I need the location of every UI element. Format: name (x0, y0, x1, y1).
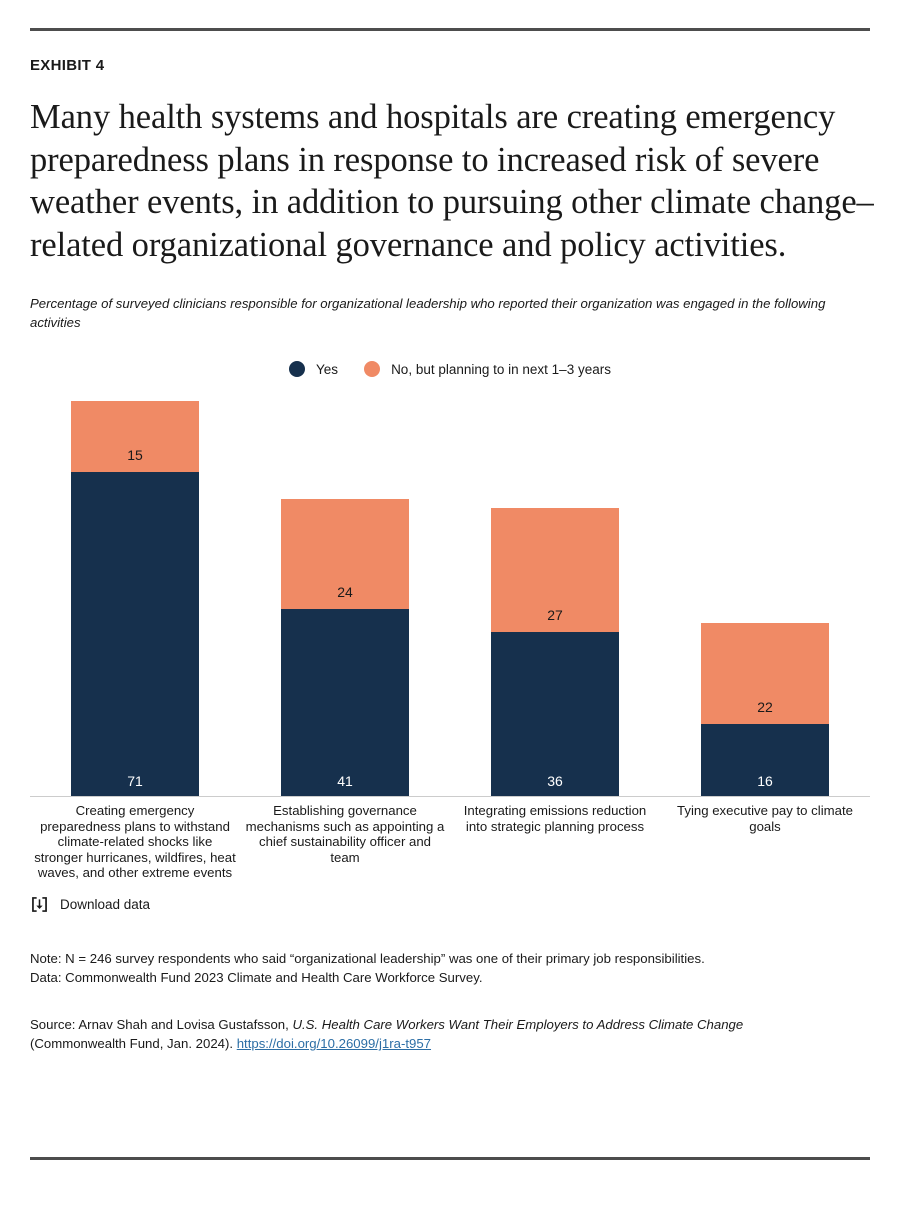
bottom-rule (30, 1157, 870, 1160)
chart-notes: Note: N = 246 survey respondents who sai… (30, 949, 870, 988)
chart-legend: Yes No, but planning to in next 1–3 year… (30, 358, 870, 380)
exhibit-page: EXHIBIT 4 Many health systems and hospit… (30, 0, 870, 1221)
x-axis-category-labels: Creating emergency preparedness plans to… (30, 803, 870, 881)
bar-value-yes-3: 36 (491, 773, 619, 789)
legend-item-planning[interactable]: No, but planning to in next 1–3 years (364, 361, 611, 377)
bar-segment-yes-2[interactable]: 41 (281, 609, 409, 797)
legend-label-yes: Yes (316, 362, 338, 377)
chart-column-2: 24 41 (240, 401, 450, 797)
page-title: Many health systems and hospitals are cr… (30, 96, 875, 266)
chart-column-4: 22 16 (660, 401, 870, 797)
legend-item-yes[interactable]: Yes (289, 361, 338, 377)
download-data-button[interactable]: Download data (30, 895, 230, 914)
category-label-2: Establishing governance mechanisms such … (240, 803, 450, 881)
stacked-bar-chart: 15 71 24 41 (30, 395, 870, 798)
bar-segment-yes-4[interactable]: 16 (701, 724, 829, 797)
bar-value-yes-2: 41 (281, 773, 409, 789)
chart-plot-area: 15 71 24 41 (30, 401, 870, 797)
bar-group-4[interactable]: 22 16 (701, 623, 829, 797)
download-data-label: Download data (60, 897, 150, 912)
bar-value-yes-4: 16 (701, 773, 829, 789)
category-label-3: Integrating emissions reduction into str… (450, 803, 660, 881)
bar-group-1[interactable]: 15 71 (71, 401, 199, 797)
source-citation: Source: Arnav Shah and Lovisa Gustafsson… (30, 1015, 830, 1054)
bar-value-planning-2: 24 (281, 584, 409, 600)
source-middle: (Commonwealth Fund, Jan. 2024). (30, 1036, 237, 1051)
source-title: U.S. Health Care Workers Want Their Empl… (292, 1017, 743, 1032)
bar-segment-yes-1[interactable]: 71 (71, 472, 199, 797)
chart-column-1: 15 71 (30, 401, 240, 797)
bar-segment-planning-4[interactable]: 22 (701, 623, 829, 724)
exhibit-label: EXHIBIT 4 (30, 57, 870, 74)
bar-value-planning-4: 22 (701, 699, 829, 715)
category-label-1: Creating emergency preparedness plans to… (30, 803, 240, 881)
bar-group-3[interactable]: 27 36 (491, 508, 619, 797)
chart-column-3: 27 36 (450, 401, 660, 797)
bar-group-2[interactable]: 24 41 (281, 499, 409, 797)
x-axis-line (30, 796, 870, 797)
legend-label-planning: No, but planning to in next 1–3 years (391, 362, 611, 377)
bar-value-planning-3: 27 (491, 607, 619, 623)
bar-value-yes-1: 71 (71, 773, 199, 789)
bar-segment-planning-2[interactable]: 24 (281, 499, 409, 609)
bar-segment-planning-1[interactable]: 15 (71, 401, 199, 472)
note-line: Note: N = 246 survey respondents who sai… (30, 949, 870, 969)
top-rule (30, 28, 870, 31)
category-label-4: Tying executive pay to climate goals (660, 803, 870, 881)
bar-value-planning-1: 15 (71, 447, 199, 463)
bar-segment-yes-3[interactable]: 36 (491, 632, 619, 797)
chart-subtitle: Percentage of surveyed clinicians respon… (30, 294, 842, 332)
bar-segment-planning-3[interactable]: 27 (491, 508, 619, 632)
data-source-line: Data: Commonwealth Fund 2023 Climate and… (30, 968, 870, 988)
source-doi-link[interactable]: https://doi.org/10.26099/j1ra-t957 (237, 1036, 431, 1051)
bottom-rule-wrap (30, 1157, 870, 1160)
download-icon (30, 895, 49, 914)
legend-swatch-yes (289, 361, 305, 377)
legend-swatch-planning (364, 361, 380, 377)
source-prefix: Source: Arnav Shah and Lovisa Gustafsson… (30, 1017, 292, 1032)
